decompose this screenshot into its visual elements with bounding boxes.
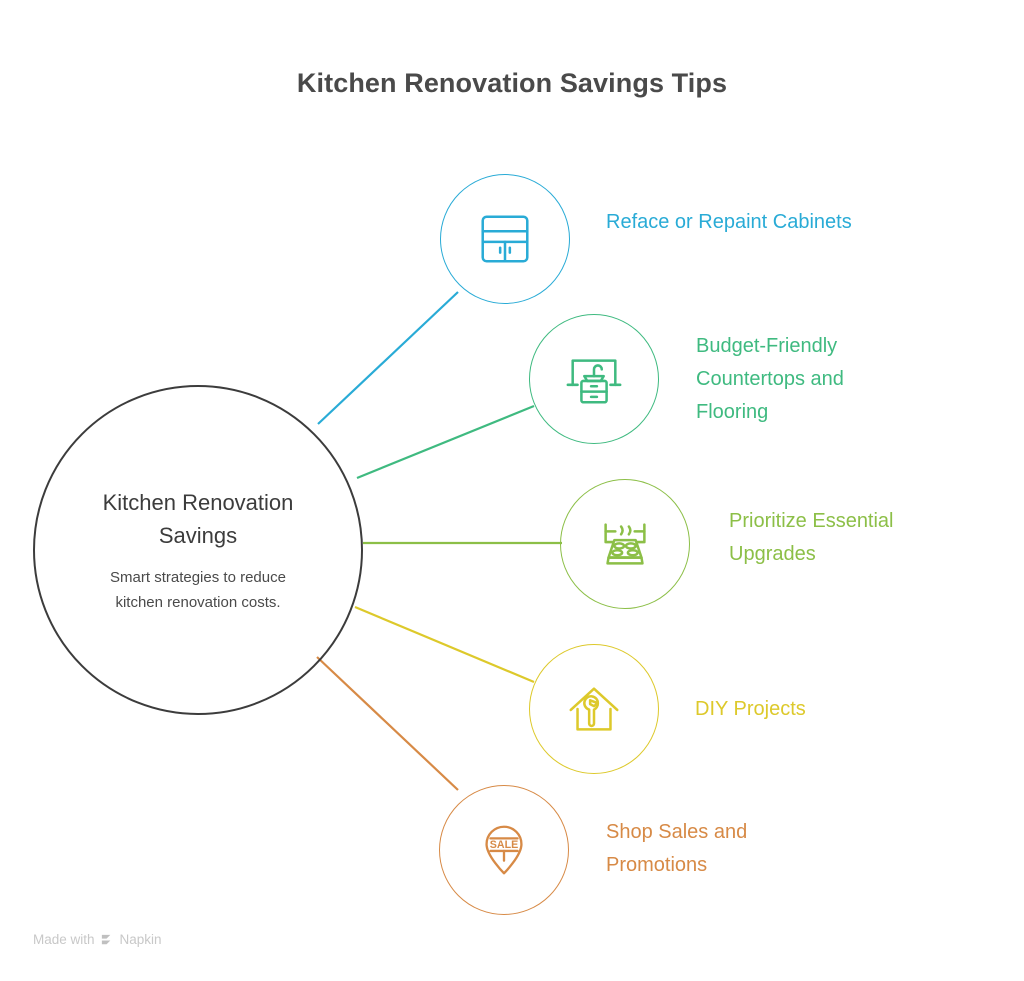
- stove-cooktop-icon: [594, 513, 656, 575]
- branch-circle-4[interactable]: [529, 644, 659, 774]
- branch-label-2: Budget-Friendly Countertops and Flooring: [696, 330, 921, 429]
- svg-text:SALE: SALE: [490, 839, 518, 851]
- house-wrench-icon: [563, 678, 625, 740]
- branch-circle-2[interactable]: [529, 314, 659, 444]
- branch-circle-5[interactable]: SALE: [439, 785, 569, 915]
- connector-line-1: [318, 292, 458, 424]
- branch-label-4: DIY Projects: [695, 693, 925, 726]
- branch-label-5: Shop Sales and Promotions: [606, 816, 826, 882]
- central-node: Kitchen Renovation Savings Smart strateg…: [33, 385, 363, 715]
- watermark: Made with Napkin: [33, 932, 162, 947]
- connector-line-5: [317, 657, 458, 790]
- branch-label-3: Prioritize Essential Upgrades: [729, 505, 974, 571]
- mindmap-diagram: Kitchen Renovation Savings Tips Kitchen …: [0, 0, 1024, 981]
- watermark-text: Made with: [33, 932, 95, 947]
- branch-label-1: Reface or Repaint Cabinets: [606, 206, 856, 239]
- connector-line-4: [355, 607, 534, 682]
- sink-vanity-icon: [563, 348, 625, 410]
- central-node-subtitle: Smart strategies to reduce kitchen renov…: [98, 565, 298, 615]
- page-title: Kitchen Renovation Savings Tips: [0, 68, 1024, 99]
- sale-pin-icon: SALE: [473, 819, 535, 881]
- connector-line-2: [357, 406, 534, 478]
- napkin-logo-icon: [100, 932, 115, 947]
- central-node-title: Kitchen Renovation Savings: [93, 486, 303, 552]
- branch-circle-1[interactable]: [440, 174, 570, 304]
- watermark-brand: Napkin: [120, 932, 162, 947]
- cabinet-icon: [474, 208, 536, 270]
- branch-circle-3[interactable]: [560, 479, 690, 609]
